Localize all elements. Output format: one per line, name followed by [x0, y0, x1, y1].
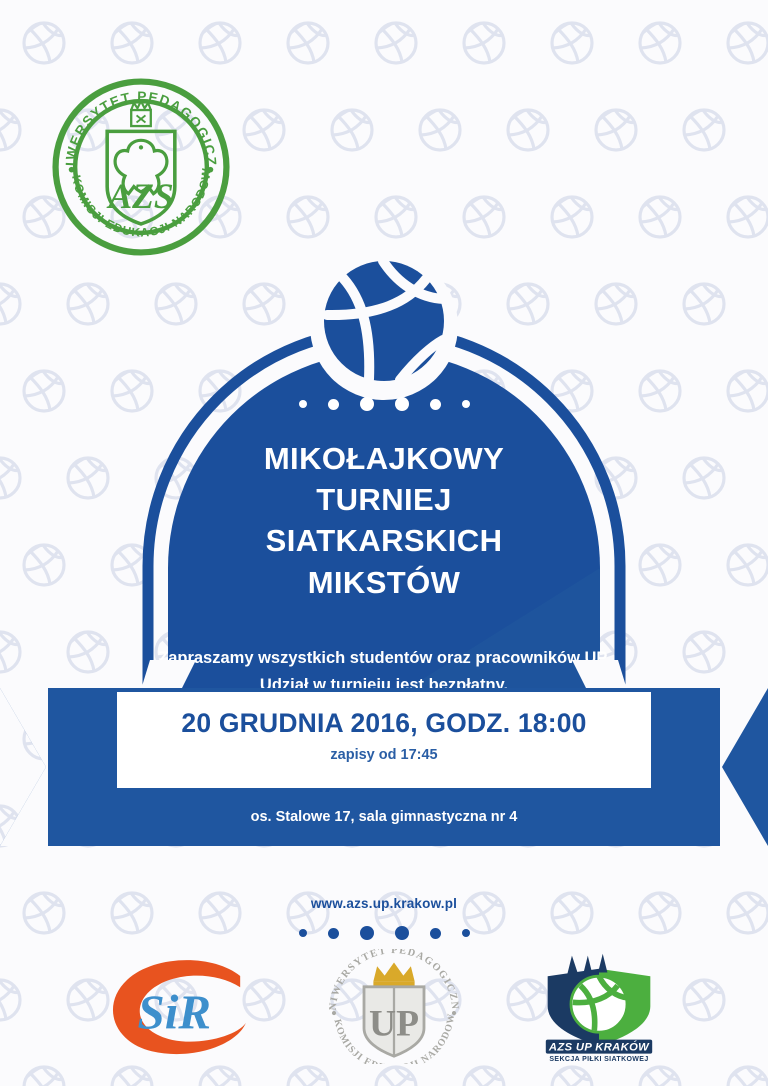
- ribbon-banner: [0, 660, 768, 860]
- footer-dots-row: [0, 921, 768, 945]
- up-monogram: UP: [369, 1004, 419, 1045]
- azs-up-seal: UNIWERSYTET PEDAGOGICZNY im. KOMISJI EDU…: [52, 78, 230, 256]
- footer-dot-2: [328, 928, 339, 939]
- sir-wordmark: SiR: [138, 984, 211, 1039]
- azs-volleyball-icon: [571, 976, 627, 1032]
- up-logo: UNIWERSYTET PEDAGOGICZNY im. KOMISJI EDU…: [319, 949, 469, 1064]
- poster-canvas: UNIWERSYTET PEDAGOGICZNY im. KOMISJI EDU…: [0, 0, 768, 1086]
- ribbon-notch-left: [0, 688, 48, 846]
- footer-dot-4: [395, 926, 409, 940]
- sir-logo: SiR: [99, 955, 259, 1059]
- azs-up-krakow-logo: AZS UP KRAKÓW SEKCJA PIŁKI SIATKOWEJ: [529, 950, 669, 1064]
- azs-subtitle: SEKCJA PIŁKI SIATKOWEJ: [549, 1056, 648, 1063]
- azs-wordmark: AZS UP KRAKÓW: [548, 1040, 650, 1053]
- seal-monogram: AZS: [106, 176, 173, 216]
- up-crown-icon: [373, 962, 414, 985]
- footer-dot-5: [430, 928, 441, 939]
- footer-dot-3: [360, 926, 374, 940]
- seal-top-arc-text: UNIWERSYTET PEDAGOGICZNY: [52, 78, 219, 167]
- seal-crown-icon: [131, 101, 151, 126]
- seal-eagle-crest-icon: AZS: [106, 131, 174, 224]
- footer-dot-6: [462, 929, 470, 937]
- website-url[interactable]: www.azs.up.krakow.pl: [0, 896, 768, 911]
- footer-dot-1: [299, 929, 307, 937]
- volleyball-icon: [324, 261, 444, 381]
- footer-block: www.azs.up.krakow.pl: [0, 896, 768, 945]
- ribbon-date-card: [115, 690, 653, 790]
- sponsor-logos-row: SiR UNIWERSYTET PEDAGOGICZNY im. KOMISJI…: [0, 944, 768, 1069]
